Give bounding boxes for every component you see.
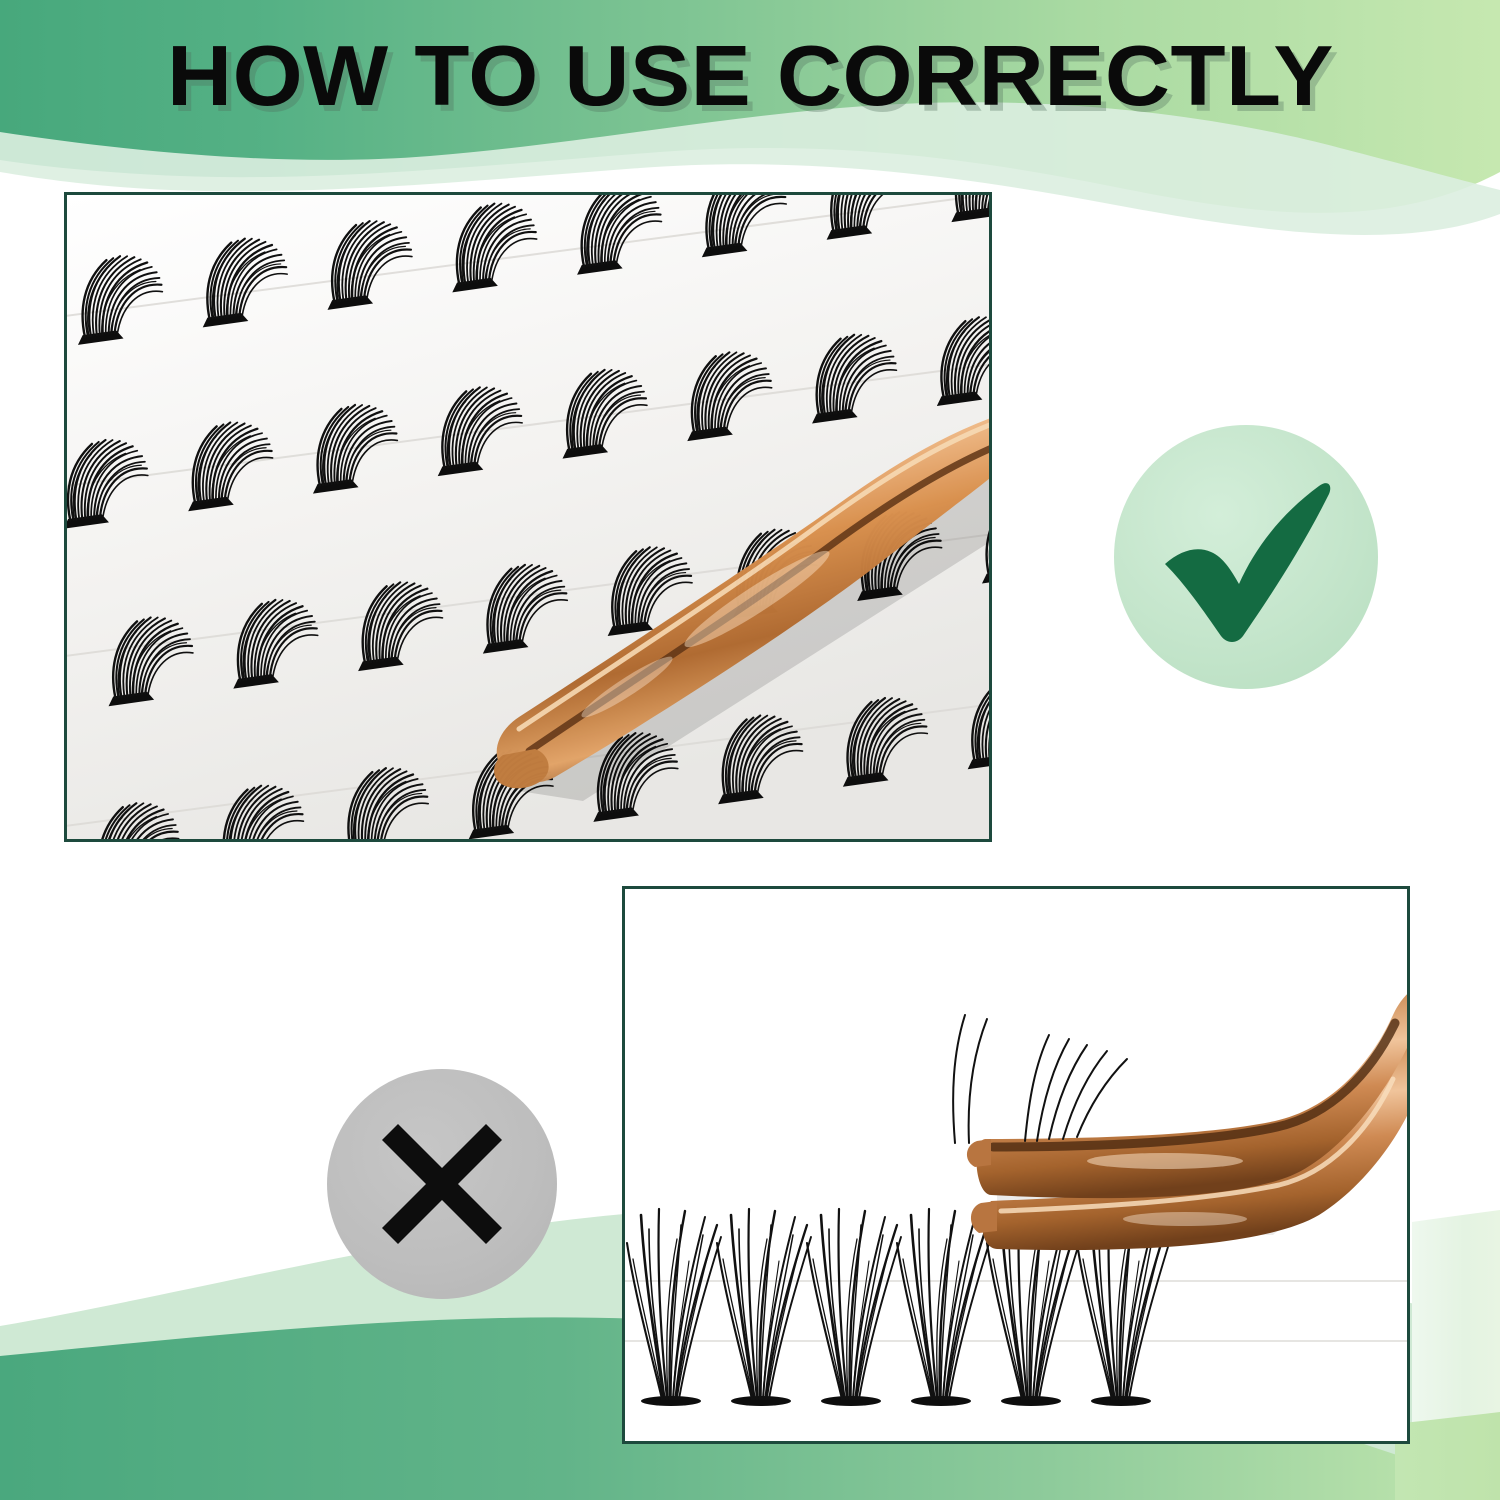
photo-wrong-inner — [625, 889, 1407, 1441]
bottom-right-green-wave — [1395, 1412, 1500, 1500]
lash-tray-correct-illustration — [67, 195, 989, 839]
cross-icon — [375, 1117, 509, 1251]
bottom-right-pale-wave — [1412, 1210, 1500, 1500]
lash-row-wrong-illustration — [625, 889, 1407, 1441]
photo-wrong-grip — [622, 886, 1410, 1444]
check-icon — [1151, 472, 1341, 642]
photo-correct-grip — [64, 192, 992, 842]
photo-correct-inner — [67, 195, 989, 839]
page-title-container: HOW TO USE CORRECTLY — [0, 34, 1500, 121]
check-badge — [1114, 425, 1378, 689]
page-title: HOW TO USE CORRECTLY — [167, 34, 1334, 121]
infographic-canvas: HOW TO USE CORRECTLY — [0, 0, 1500, 1500]
cross-badge — [327, 1069, 557, 1299]
